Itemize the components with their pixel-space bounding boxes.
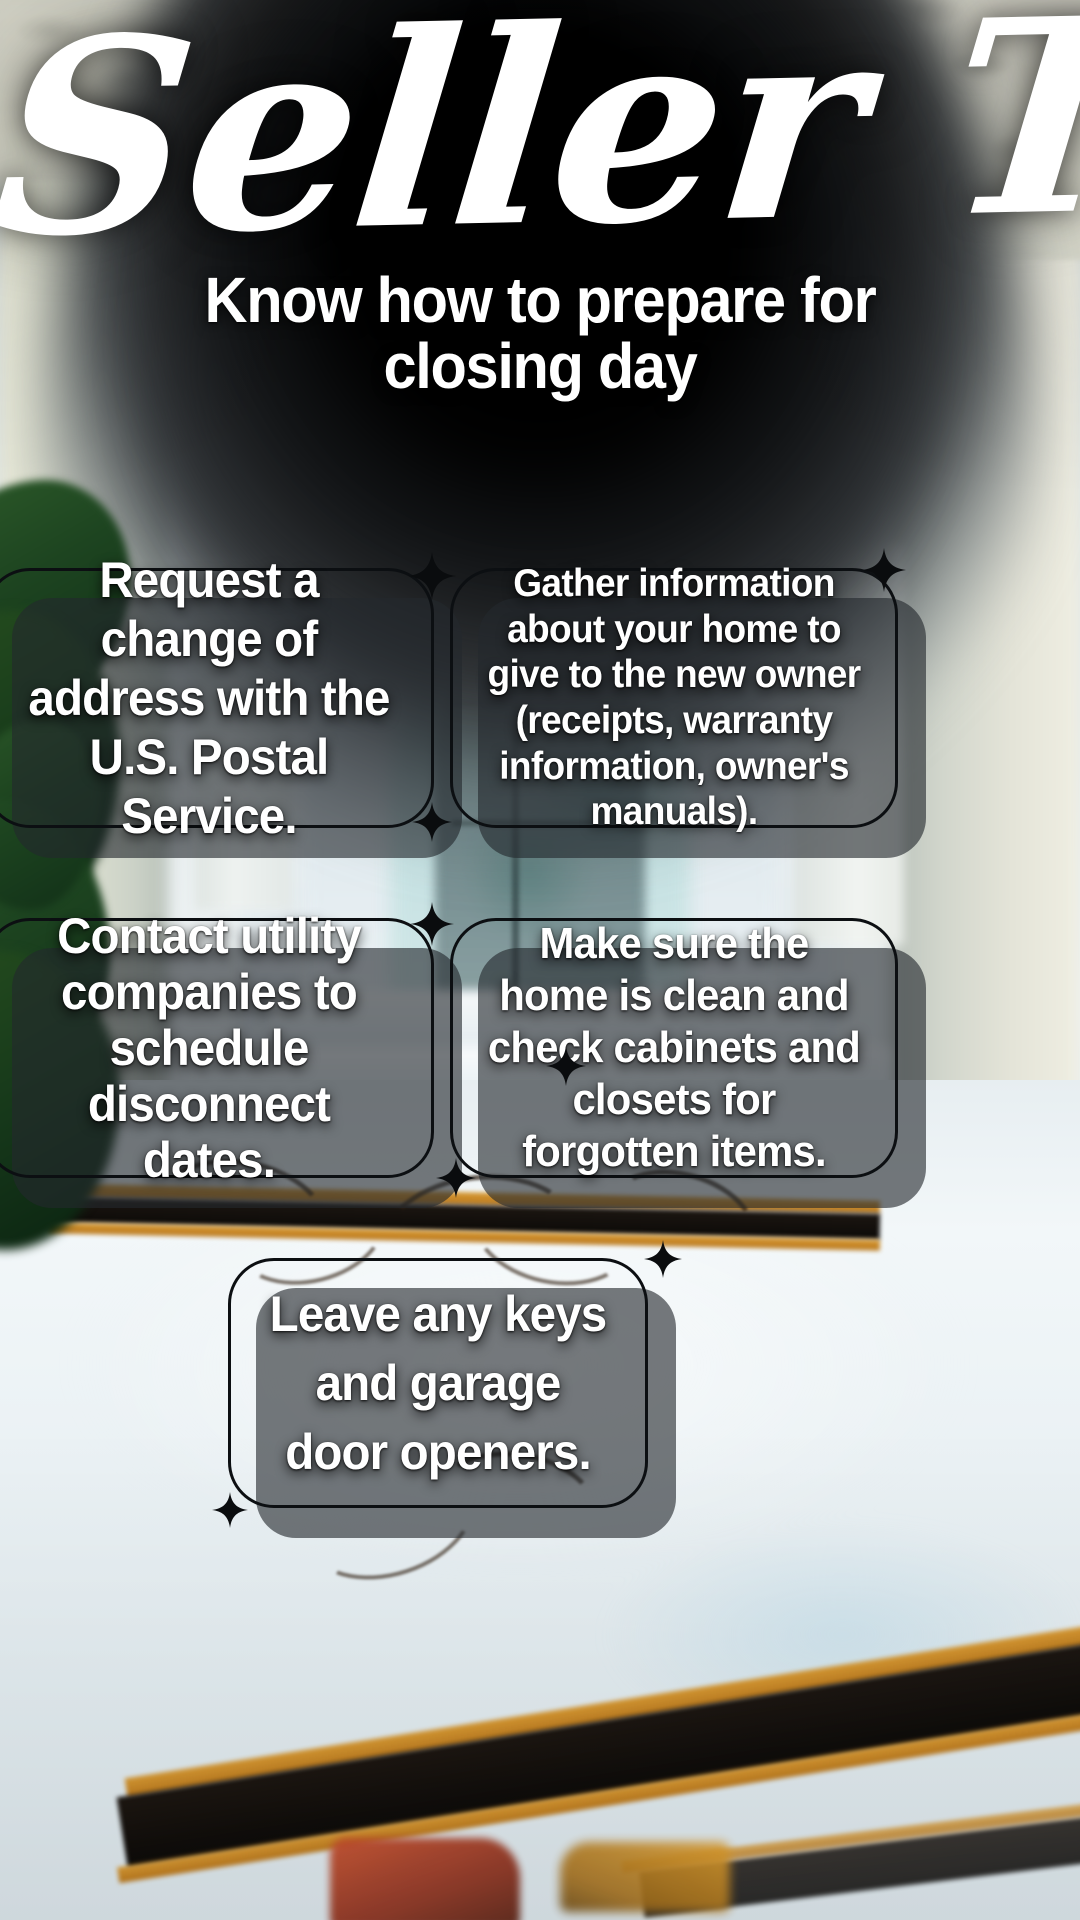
tip-card-text: Gather information about your home to gi… [486,561,862,835]
four-point-sparkle-icon [644,1240,682,1278]
tip-card-text: Make sure the home is clean and check ca… [486,918,862,1178]
four-point-sparkle-icon [410,902,454,946]
tip-card-text-wrap: Request a change of address with the U.S… [0,568,434,828]
four-point-sparkle-icon [546,1046,586,1086]
tip-card-text-wrap: Leave any keys and garage door openers. [228,1258,648,1508]
four-point-sparkle-icon [408,552,456,600]
tip-card-gather-information[interactable]: Gather information about your home to gi… [450,568,898,828]
tip-card-text: Request a change of address with the U.S… [20,551,398,846]
tip-card-contact-utilities[interactable]: Contact utility companies to schedule di… [0,918,434,1178]
seller-tip-infographic: Seller Tip Know how to prepare for closi… [0,0,1080,1920]
four-point-sparkle-icon [212,1492,248,1528]
page-title: Seller Tip [0,0,1080,256]
tip-card-text-wrap: Gather information about your home to gi… [450,568,898,828]
tip-card-clean-home[interactable]: Make sure the home is clean and check ca… [450,918,898,1178]
tip-card-change-of-address[interactable]: Request a change of address with the U.S… [0,568,434,828]
tip-card-text: Contact utility companies to schedule di… [20,908,398,1188]
four-point-sparkle-icon [436,1158,476,1198]
tip-card-text-wrap: Contact utility companies to schedule di… [0,918,434,1178]
header: Seller Tip Know how to prepare for closi… [0,0,1080,399]
page-subtitle: Know how to prepare for closing day [140,268,940,399]
four-point-sparkle-icon [412,802,452,842]
four-point-sparkle-icon [862,548,906,592]
tip-card-text-wrap: Make sure the home is clean and check ca… [450,918,898,1178]
tip-card-text: Leave any keys and garage door openers. [263,1280,613,1487]
tip-card-leave-keys[interactable]: Leave any keys and garage door openers. [228,1258,648,1508]
